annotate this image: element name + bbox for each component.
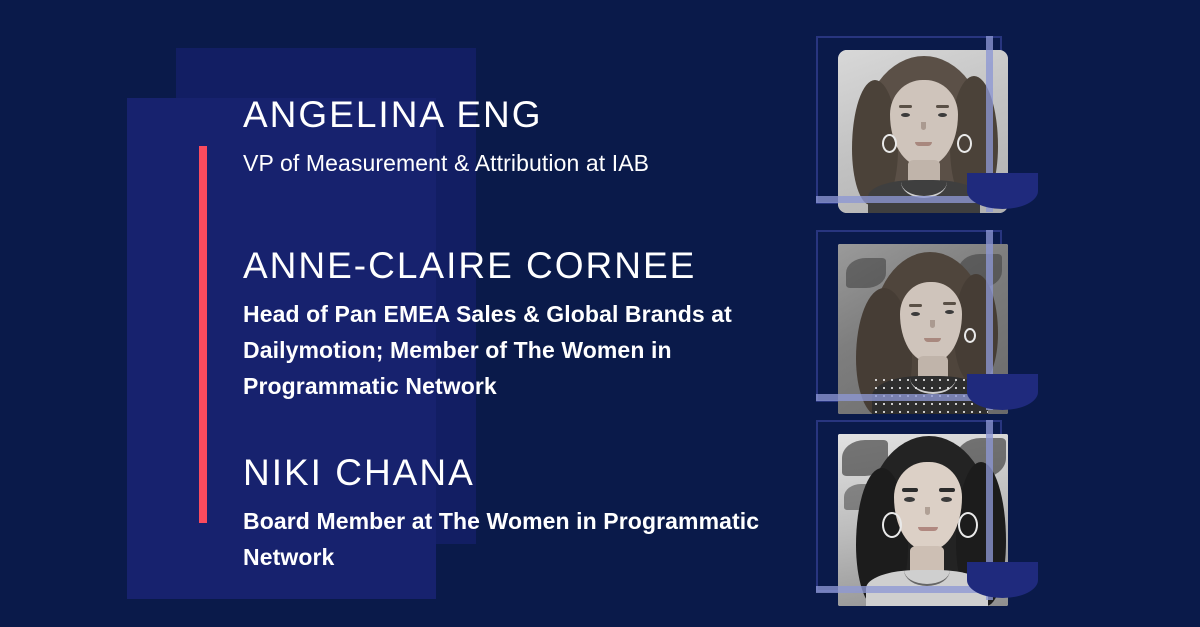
- speaker-entry: ANGELINA ENG VP of Measurement & Attribu…: [243, 92, 788, 181]
- half-disc-shape: [967, 374, 1038, 410]
- half-disc-shape: [967, 173, 1038, 209]
- speaker-lineup-slide: ANGELINA ENG VP of Measurement & Attribu…: [0, 0, 1200, 627]
- half-disc-shape: [967, 562, 1038, 598]
- speaker-name: ANGELINA ENG: [243, 92, 788, 138]
- speaker-entry: NIKI CHANA Board Member at The Women in …: [243, 450, 788, 575]
- speaker-photo-card: [806, 28, 1056, 218]
- speaker-photo-card: [806, 412, 1056, 606]
- speaker-role: VP of Measurement & Attribution at IAB: [243, 138, 788, 181]
- speaker-entry: ANNE-CLAIRE CORNEE Head of Pan EMEA Sale…: [243, 243, 788, 404]
- speaker-text-list: ANGELINA ENG VP of Measurement & Attribu…: [243, 0, 788, 627]
- speaker-name: NIKI CHANA: [243, 450, 788, 496]
- red-accent-bar: [199, 146, 207, 523]
- speaker-photo-column: [806, 0, 1056, 627]
- speaker-name: ANNE-CLAIRE CORNEE: [243, 243, 788, 289]
- speaker-role: Board Member at The Women in Programmati…: [243, 496, 788, 575]
- speaker-photo-card: [806, 222, 1056, 416]
- speaker-role: Head of Pan EMEA Sales & Global Brands a…: [243, 289, 788, 404]
